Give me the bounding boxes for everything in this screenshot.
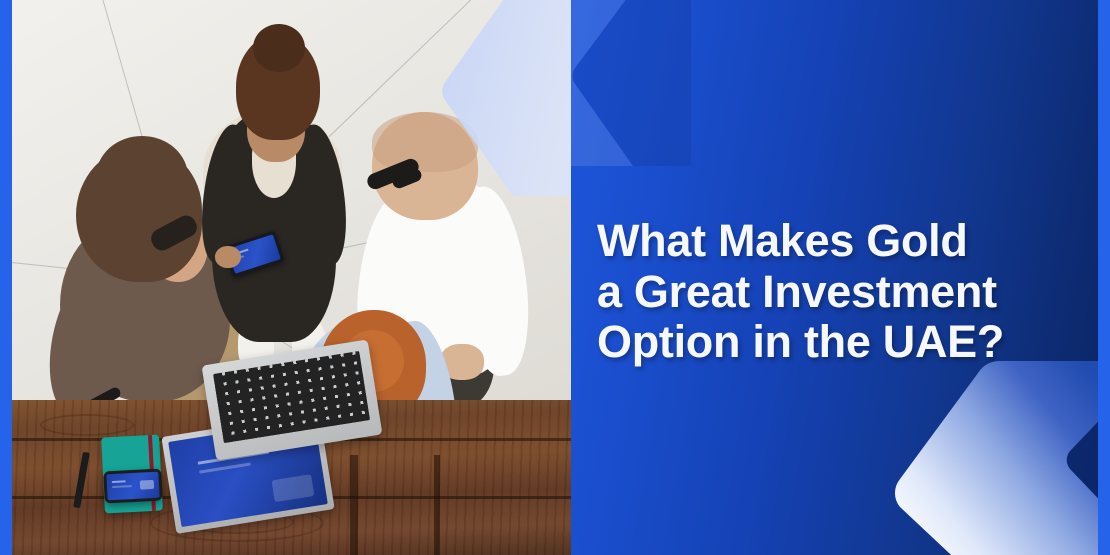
- table-plank-seam: [434, 455, 440, 555]
- wood-grain: [40, 414, 134, 436]
- chevron-bottom-corner: [882, 353, 1110, 555]
- chevron-panel-notch: [571, 0, 691, 178]
- smartphone-on-desk: [103, 469, 163, 504]
- right-edge-strip: [1098, 0, 1110, 555]
- table-plank-seam: [350, 455, 358, 555]
- page-title: What Makes Gold a Great Investment Optio…: [597, 216, 1067, 368]
- hero-photo: [0, 0, 571, 555]
- headline-panel: What Makes Gold a Great Investment Optio…: [571, 0, 1110, 555]
- headline-line-1: What Makes Gold: [597, 216, 1067, 267]
- left-edge-strip: [0, 0, 12, 555]
- marketing-banner: What Makes Gold a Great Investment Optio…: [0, 0, 1110, 555]
- headline-line-2: a Great Investment: [597, 267, 1067, 318]
